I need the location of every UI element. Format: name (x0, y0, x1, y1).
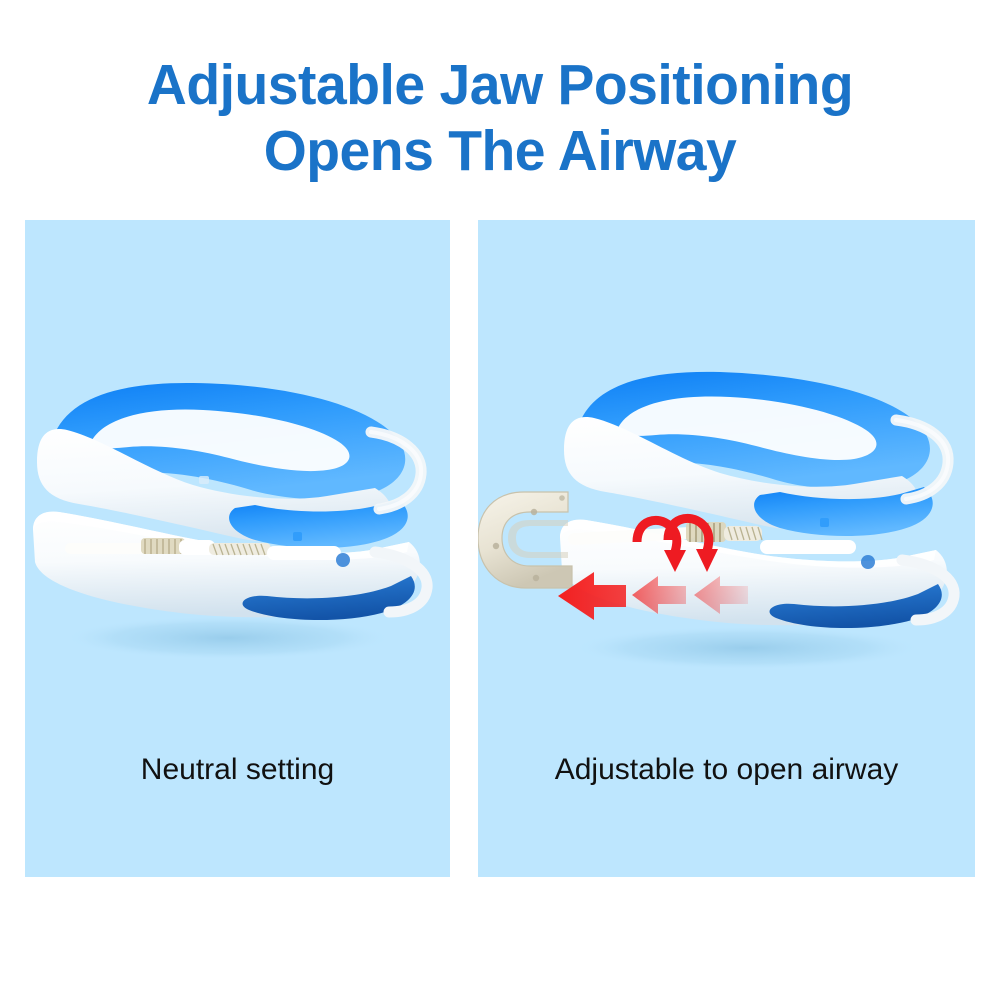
panel-adjustable-setting: Adjustable to open airway (478, 220, 975, 877)
indicator-mark (293, 532, 302, 541)
loop-inner-shade (508, 520, 568, 558)
panel-neutral-setting: Neutral setting (25, 220, 450, 877)
product-shadow (63, 616, 393, 660)
adjustment-rod-right (267, 546, 341, 560)
product-image-adjusted (478, 360, 975, 680)
page-title-line-1: Adjustable Jaw Positioning (15, 52, 985, 118)
product-image-neutral (25, 370, 450, 670)
loop-rivet-right (559, 495, 565, 501)
comparison-panels: Neutral setting (25, 220, 975, 877)
upper-body-detail (199, 476, 209, 484)
loop-rivet-bottom (533, 575, 539, 581)
pivot-pin (336, 553, 350, 567)
pivot-pin (861, 555, 875, 569)
adjustment-loop-handle[interactable] (478, 492, 572, 588)
indicator-mark (820, 518, 829, 527)
screw-threads (145, 539, 181, 554)
panel-caption-adjusted: Adjustable to open airway (478, 753, 975, 787)
loop-rivet-left (493, 543, 499, 549)
product-shadow (572, 626, 922, 670)
loop-rivet-top (531, 509, 537, 515)
page-title: Adjustable Jaw Positioning Opens The Air… (0, 52, 1000, 184)
adjustment-rod-right (760, 540, 856, 554)
page-title-line-2: Opens The Airway (15, 118, 985, 184)
panel-caption-neutral: Neutral setting (25, 753, 450, 787)
